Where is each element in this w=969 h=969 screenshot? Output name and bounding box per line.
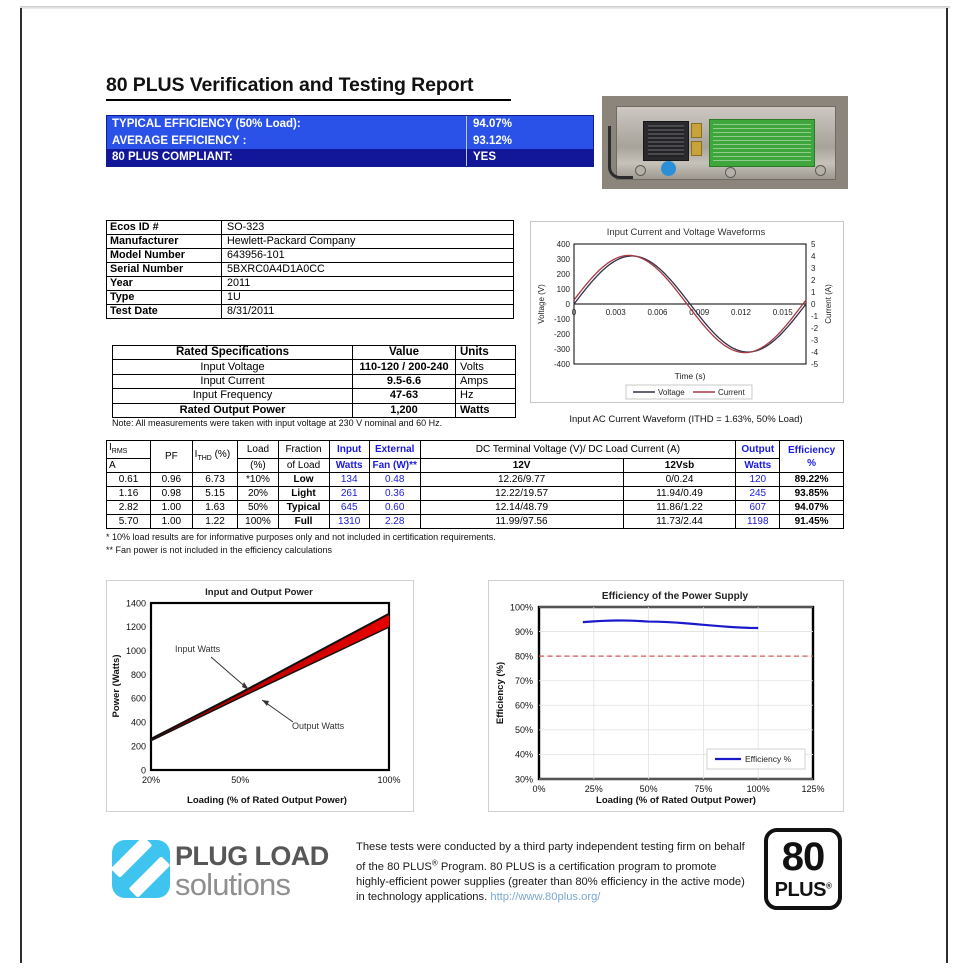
efficiency-y-ticks: 30%40%50%60%70%80%90%100% bbox=[510, 602, 533, 784]
svg-text:-400: -400 bbox=[554, 360, 571, 369]
device-info-table: Ecos ID # SO-323 Manufacturer Hewlett-Pa… bbox=[106, 220, 514, 319]
svg-text:-100: -100 bbox=[554, 315, 571, 324]
svg-text:0: 0 bbox=[566, 300, 571, 309]
svg-text:0: 0 bbox=[141, 765, 146, 775]
cell-fraction: Low bbox=[278, 473, 329, 487]
svg-text:40%: 40% bbox=[515, 750, 533, 760]
power-supply-photo bbox=[602, 96, 848, 189]
waveform-chart: Input Current and Voltage Waveforms 4003… bbox=[530, 221, 844, 403]
cell-output-watts: 245 bbox=[736, 487, 780, 501]
waveform-y-ticks: 4003002001000-100-200-300-400 bbox=[554, 240, 571, 369]
table-row: Input Frequency 47-63 Hz bbox=[113, 389, 516, 403]
cell-output-watts: 607 bbox=[736, 501, 780, 515]
summary-label-typical-efficiency: TYPICAL EFFICIENCY (50% Load): bbox=[107, 118, 466, 130]
svg-text:200: 200 bbox=[131, 741, 146, 751]
header-external-fan-line1: External bbox=[369, 441, 420, 459]
table-row: Input Current 9.5-6.6 Amps bbox=[113, 374, 516, 388]
spec-value-input-frequency: 47-63 bbox=[353, 389, 456, 403]
waveform-x-axis-label: Time (s) bbox=[675, 371, 706, 381]
power-x-axis-label: Loading (% of Rated Output Power) bbox=[187, 795, 347, 806]
cell-12vsb: 0/0.24 bbox=[623, 473, 736, 487]
cell-irms: 1.16 bbox=[107, 487, 151, 501]
spec-value-input-current: 9.5-6.6 bbox=[353, 374, 456, 388]
svg-text:400: 400 bbox=[131, 718, 146, 728]
svg-text:1200: 1200 bbox=[126, 622, 146, 632]
info-key-model-number: Model Number bbox=[107, 249, 222, 263]
summary-label-compliant: 80 PLUS COMPLIANT: bbox=[107, 151, 466, 163]
info-key-year: Year bbox=[107, 277, 222, 291]
svg-text:0.006: 0.006 bbox=[647, 308, 668, 317]
cell-12v: 12.22/19.57 bbox=[420, 487, 623, 501]
cell-efficiency: 89.22% bbox=[780, 473, 844, 487]
svg-text:-4: -4 bbox=[811, 348, 819, 357]
header-load: Load bbox=[238, 441, 278, 459]
table-row: 1.16 0.98 5.15 20% Light 261 0.36 12.22/… bbox=[107, 487, 844, 501]
cell-fan: 2.28 bbox=[369, 515, 420, 529]
header-ithd-sub: THD bbox=[197, 455, 211, 462]
psu-screw-center bbox=[725, 167, 736, 178]
info-value-test-date: 8/31/2011 bbox=[222, 305, 514, 319]
cell-fan: 0.48 bbox=[369, 473, 420, 487]
cell-efficiency: 93.85% bbox=[780, 487, 844, 501]
badge-plus-label: PLUS bbox=[775, 879, 826, 901]
svg-text:1: 1 bbox=[811, 288, 816, 297]
cell-fan: 0.36 bbox=[369, 487, 420, 501]
table-row: Year 2011 bbox=[107, 277, 514, 291]
waveform-y2-ticks: 543210-1-2-3-4-5 bbox=[811, 240, 819, 369]
cell-pf: 0.96 bbox=[151, 473, 193, 487]
table-row: 0.61 0.96 6.73 *10% Low 134 0.48 12.26/9… bbox=[107, 473, 844, 487]
cell-12vsb: 11.94/0.49 bbox=[623, 487, 736, 501]
spec-name-input-voltage: Input Voltage bbox=[113, 360, 353, 374]
spec-header-value: Value bbox=[353, 346, 456, 360]
info-key-manufacturer: Manufacturer bbox=[107, 235, 222, 249]
svg-text:50%: 50% bbox=[231, 775, 249, 785]
cell-fraction: Typical bbox=[278, 501, 329, 515]
efficiency-y-axis-label: Efficiency (%) bbox=[495, 662, 506, 724]
80plus-website-link[interactable]: http://www.80plus.org/ bbox=[490, 891, 600, 903]
table-row: Test Date 8/31/2011 bbox=[107, 305, 514, 319]
svg-text:20%: 20% bbox=[142, 775, 160, 785]
power-svg: Input and Output Power 02004006008001000… bbox=[107, 581, 411, 809]
cell-ithd: 6.73 bbox=[192, 473, 238, 487]
table-row: Serial Number 5BXRC0A4D1A0CC bbox=[107, 263, 514, 277]
header-output-watts-line2: Watts bbox=[736, 459, 780, 473]
page-title: 80 PLUS Verification and Testing Report bbox=[106, 74, 473, 97]
header-dc-12v: 12V bbox=[420, 459, 623, 473]
info-key-type: Type bbox=[107, 291, 222, 305]
svg-text:5: 5 bbox=[811, 240, 816, 249]
spec-units-rated-output-power: Watts bbox=[456, 403, 516, 417]
power-annotation-output-watts: Output Watts bbox=[292, 721, 345, 731]
footnote-10-percent: * 10% load results are for informative p… bbox=[106, 531, 496, 544]
svg-text:3: 3 bbox=[811, 264, 816, 273]
cell-ithd: 1.22 bbox=[192, 515, 238, 529]
psu-cable bbox=[608, 126, 633, 179]
power-chart: Input and Output Power 02004006008001000… bbox=[106, 580, 414, 812]
title-underline bbox=[106, 99, 511, 101]
waveform-y2-axis-label: Current (A) bbox=[824, 284, 833, 324]
info-value-type: 1U bbox=[222, 291, 514, 305]
spec-name-input-current: Input Current bbox=[113, 374, 353, 388]
spec-units-input-voltage: Volts bbox=[456, 360, 516, 374]
info-value-manufacturer: Hewlett-Packard Company bbox=[222, 235, 514, 249]
plug-load-solutions-logo: PLUG LOAD solutions bbox=[112, 836, 344, 902]
header-input-watts-line1: Input bbox=[329, 441, 369, 459]
efficiency-legend-label: Efficiency % bbox=[745, 754, 792, 764]
info-value-ecos-id: SO-323 bbox=[222, 221, 514, 235]
header-irms-unit: A bbox=[107, 459, 151, 473]
cell-pf: 1.00 bbox=[151, 515, 193, 529]
svg-text:100%: 100% bbox=[510, 602, 533, 612]
svg-text:0.003: 0.003 bbox=[606, 308, 627, 317]
table-row: Ecos ID # SO-323 bbox=[107, 221, 514, 235]
header-fraction-line2: of Load bbox=[278, 459, 329, 473]
cell-12v: 12.26/9.77 bbox=[420, 473, 623, 487]
info-value-year: 2011 bbox=[222, 277, 514, 291]
header-load-unit: (%) bbox=[238, 459, 278, 473]
summary-value-compliant: YES bbox=[466, 149, 593, 166]
spec-note: Note: All measurements were taken with i… bbox=[112, 418, 442, 428]
svg-text:0: 0 bbox=[572, 308, 577, 317]
spec-header-name: Rated Specifications bbox=[113, 346, 353, 360]
waveform-y-axis-label: Voltage (V) bbox=[537, 284, 546, 324]
info-key-serial-number: Serial Number bbox=[107, 263, 222, 277]
footer-description: These tests were conducted by a third pa… bbox=[356, 840, 746, 906]
cell-output-watts: 1198 bbox=[736, 515, 780, 529]
header-fraction: Fraction bbox=[278, 441, 329, 459]
svg-text:-2: -2 bbox=[811, 324, 819, 333]
table-header-row: Rated Specifications Value Units bbox=[113, 346, 516, 360]
svg-text:300: 300 bbox=[557, 255, 571, 264]
header-pf: PF bbox=[151, 441, 193, 473]
spec-units-input-frequency: Hz bbox=[456, 389, 516, 403]
svg-text:125%: 125% bbox=[801, 784, 824, 794]
badge-number: 80 bbox=[768, 835, 838, 879]
efficiency-x-axis-label: Loading (% of Rated Output Power) bbox=[596, 795, 756, 806]
svg-text:100: 100 bbox=[557, 285, 571, 294]
svg-text:50%: 50% bbox=[640, 784, 658, 794]
summary-row-compliant: 80 PLUS COMPLIANT: YES bbox=[107, 149, 593, 166]
svg-text:-1: -1 bbox=[811, 312, 819, 321]
psu-screw-left bbox=[635, 165, 646, 176]
footer-divider bbox=[106, 826, 846, 827]
svg-text:100%: 100% bbox=[377, 775, 400, 785]
table-header-row: IRMS PF ITHD (%) Load Fraction Input Ext… bbox=[107, 441, 844, 459]
80-plus-badge: 80 PLUS® bbox=[764, 828, 842, 910]
cell-ithd: 5.15 bbox=[192, 487, 238, 501]
cell-load: *10% bbox=[238, 473, 278, 487]
efficiency-chart-title: Efficiency of the Power Supply bbox=[602, 591, 749, 602]
spec-value-input-voltage: 110-120 / 200-240 bbox=[353, 360, 456, 374]
waveform-caption: Input AC Current Waveform (ITHD = 1.63%,… bbox=[530, 414, 842, 425]
psu-connector-a bbox=[691, 123, 702, 138]
header-input-watts-line2: Watts bbox=[329, 459, 369, 473]
svg-text:90%: 90% bbox=[515, 627, 533, 637]
svg-text:400: 400 bbox=[557, 240, 571, 249]
measurements-table: IRMS PF ITHD (%) Load Fraction Input Ext… bbox=[106, 440, 844, 529]
cell-12v: 12.14/48.79 bbox=[420, 501, 623, 515]
summary-row-typical-efficiency: TYPICAL EFFICIENCY (50% Load): 94.07% bbox=[107, 116, 593, 133]
cell-efficiency: 91.45% bbox=[780, 515, 844, 529]
header-external-fan-line2: Fan (W)** bbox=[369, 459, 420, 473]
svg-text:-300: -300 bbox=[554, 345, 571, 354]
cell-load: 20% bbox=[238, 487, 278, 501]
psu-fan-grille bbox=[643, 121, 689, 161]
cell-pf: 1.00 bbox=[151, 501, 193, 515]
info-key-test-date: Test Date bbox=[107, 305, 222, 319]
cell-load: 50% bbox=[238, 501, 278, 515]
logo-text-solutions: solutions bbox=[175, 867, 290, 903]
svg-text:0.012: 0.012 bbox=[731, 308, 752, 317]
svg-text:600: 600 bbox=[131, 694, 146, 704]
table-row: Rated Output Power 1,200 Watts bbox=[113, 403, 516, 417]
cell-input-watts: 134 bbox=[329, 473, 369, 487]
cell-ithd: 1.63 bbox=[192, 501, 238, 515]
info-key-ecos-id: Ecos ID # bbox=[107, 221, 222, 235]
svg-text:75%: 75% bbox=[694, 784, 712, 794]
cell-load: 100% bbox=[238, 515, 278, 529]
table-row: Type 1U bbox=[107, 291, 514, 305]
table-footnotes: * 10% load results are for informative p… bbox=[106, 531, 496, 557]
psu-chassis bbox=[616, 106, 836, 180]
header-dc-12vsb: 12Vsb bbox=[623, 459, 736, 473]
svg-text:50%: 50% bbox=[515, 725, 533, 735]
table-row: Input Voltage 110-120 / 200-240 Volts bbox=[113, 360, 516, 374]
psu-connector-b bbox=[691, 141, 702, 156]
power-chart-title: Input and Output Power bbox=[205, 587, 313, 598]
svg-text:-3: -3 bbox=[811, 336, 819, 345]
svg-text:-200: -200 bbox=[554, 330, 571, 339]
svg-text:200: 200 bbox=[557, 270, 571, 279]
cell-fraction: Light bbox=[278, 487, 329, 501]
summary-row-average-efficiency: AVERAGE EFFICIENCY : 93.12% bbox=[107, 133, 593, 150]
summary-band: TYPICAL EFFICIENCY (50% Load): 94.07% AV… bbox=[106, 115, 594, 167]
header-irms-sub: RMS bbox=[112, 448, 128, 455]
svg-text:800: 800 bbox=[131, 670, 146, 680]
svg-text:0: 0 bbox=[811, 300, 816, 309]
info-value-model-number: 643956-101 bbox=[222, 249, 514, 263]
header-ithd-unit: (%) bbox=[212, 449, 230, 460]
cell-12vsb: 11.73/2.44 bbox=[623, 515, 736, 529]
power-x-ticks: 20%50%100% bbox=[142, 775, 401, 785]
cell-output-watts: 120 bbox=[736, 473, 780, 487]
summary-label-average-efficiency: AVERAGE EFFICIENCY : bbox=[107, 135, 466, 147]
rated-specifications-table: Rated Specifications Value Units Input V… bbox=[112, 345, 516, 418]
info-value-serial-number: 5BXRC0A4D1A0CC bbox=[222, 263, 514, 277]
cell-fraction: Full bbox=[278, 515, 329, 529]
cell-irms: 2.82 bbox=[107, 501, 151, 515]
waveform-chart-title: Input Current and Voltage Waveforms bbox=[607, 227, 766, 238]
spec-value-rated-output-power: 1,200 bbox=[353, 403, 456, 417]
spec-units-input-current: Amps bbox=[456, 374, 516, 388]
cell-input-watts: 645 bbox=[329, 501, 369, 515]
header-output-watts-line1: Output bbox=[736, 441, 780, 459]
spec-name-input-frequency: Input Frequency bbox=[113, 389, 353, 403]
svg-text:-5: -5 bbox=[811, 360, 819, 369]
cell-pf: 0.98 bbox=[151, 487, 193, 501]
psu-handle-dot bbox=[661, 161, 676, 176]
badge-plus-text: PLUS® bbox=[768, 879, 838, 902]
cell-input-watts: 261 bbox=[329, 487, 369, 501]
svg-text:100%: 100% bbox=[747, 784, 770, 794]
svg-text:4: 4 bbox=[811, 252, 816, 261]
cell-efficiency: 94.07% bbox=[780, 501, 844, 515]
waveform-legend-voltage: Voltage bbox=[658, 388, 685, 397]
efficiency-x-ticks: 0%25%50%75%100%125% bbox=[532, 784, 824, 794]
svg-text:1000: 1000 bbox=[126, 646, 146, 656]
footnote-fan-power: ** Fan power is not included in the effi… bbox=[106, 544, 496, 557]
table-row: Model Number 643956-101 bbox=[107, 249, 514, 263]
spec-header-units: Units bbox=[456, 346, 516, 360]
svg-text:30%: 30% bbox=[515, 774, 533, 784]
cell-fan: 0.60 bbox=[369, 501, 420, 515]
summary-value-average-efficiency: 93.12% bbox=[466, 133, 593, 150]
summary-value-typical-efficiency: 94.07% bbox=[466, 116, 593, 133]
table-row: 5.70 1.00 1.22 100% Full 1310 2.28 11.99… bbox=[107, 515, 844, 529]
plug-load-logo-icon bbox=[112, 840, 170, 898]
table-row: 2.82 1.00 1.63 50% Typical 645 0.60 12.1… bbox=[107, 501, 844, 515]
power-annotation-input-watts: Input Watts bbox=[175, 644, 221, 654]
cell-irms: 5.70 bbox=[107, 515, 151, 529]
header-dc-group: DC Terminal Voltage (V)/ DC Load Current… bbox=[420, 441, 736, 459]
table-row: Manufacturer Hewlett-Packard Company bbox=[107, 235, 514, 249]
svg-text:60%: 60% bbox=[515, 701, 533, 711]
svg-text:1400: 1400 bbox=[126, 598, 146, 608]
cell-12v: 11.99/97.56 bbox=[420, 515, 623, 529]
spec-name-rated-output-power: Rated Output Power bbox=[113, 403, 353, 417]
psu-spec-label bbox=[709, 119, 815, 167]
svg-text:25%: 25% bbox=[585, 784, 603, 794]
header-efficiency: Efficiency % bbox=[780, 441, 844, 473]
efficiency-svg: Efficiency of the Power Supply 30%40%50%… bbox=[489, 581, 841, 809]
waveform-svg: Input Current and Voltage Waveforms 4003… bbox=[531, 222, 841, 400]
svg-text:0.015: 0.015 bbox=[773, 308, 794, 317]
cell-12vsb: 11.86/1.22 bbox=[623, 501, 736, 515]
report-page: 80 PLUS Verification and Testing Report … bbox=[0, 0, 969, 969]
psu-screw-right bbox=[815, 165, 826, 176]
svg-text:0%: 0% bbox=[532, 784, 545, 794]
svg-text:2: 2 bbox=[811, 276, 816, 285]
power-y-axis-label: Power (Watts) bbox=[111, 655, 122, 718]
cell-irms: 0.61 bbox=[107, 473, 151, 487]
svg-text:70%: 70% bbox=[515, 676, 533, 686]
svg-text:80%: 80% bbox=[515, 651, 533, 661]
efficiency-chart: Efficiency of the Power Supply 30%40%50%… bbox=[488, 580, 844, 812]
power-y-ticks: 0200400600800100012001400 bbox=[126, 598, 146, 775]
waveform-legend-current: Current bbox=[718, 388, 745, 397]
cell-input-watts: 1310 bbox=[329, 515, 369, 529]
